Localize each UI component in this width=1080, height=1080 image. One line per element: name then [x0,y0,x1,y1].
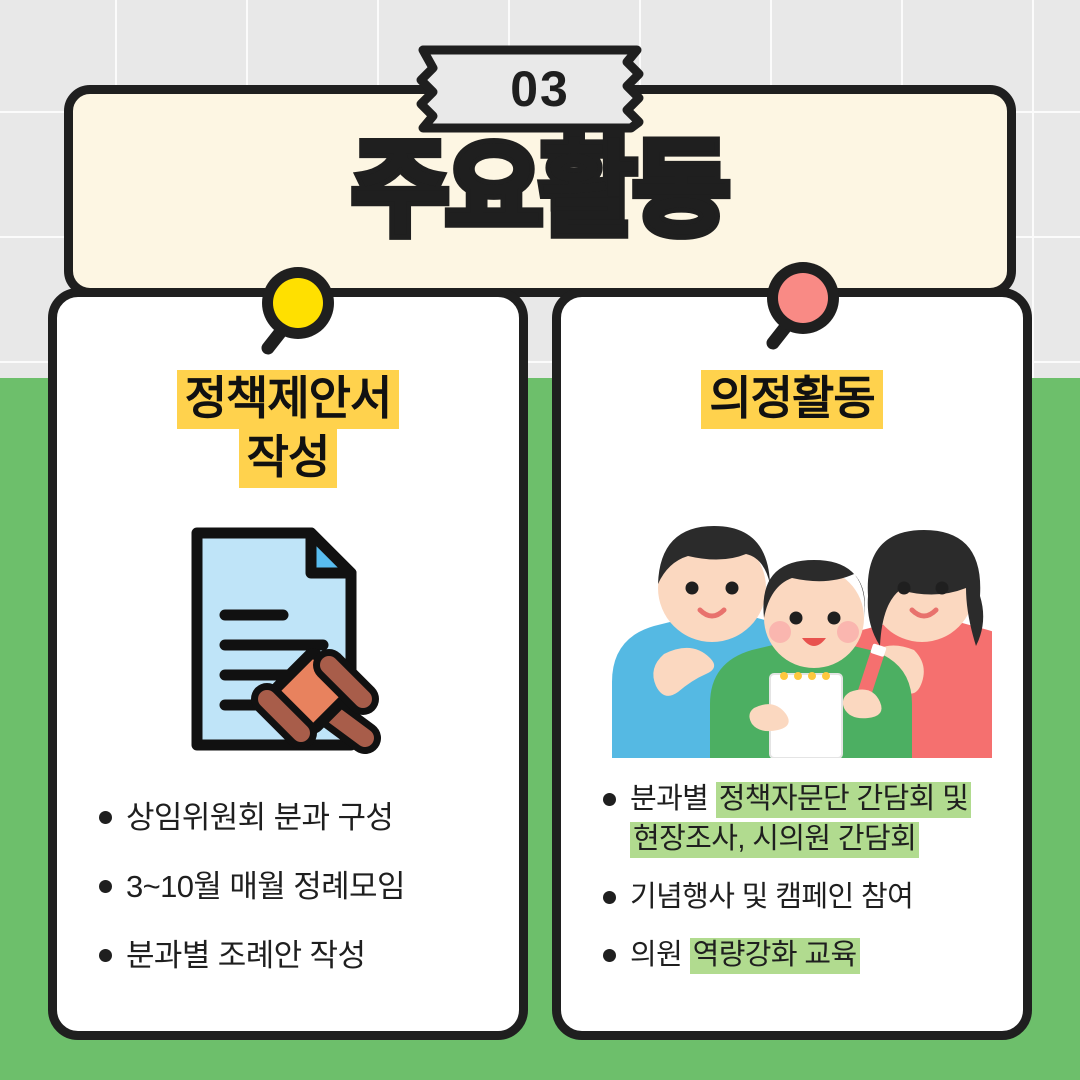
card-council-activity: 의정활동 [552,288,1032,1040]
bullet-dot-icon [603,891,616,904]
document-gavel-icon [57,509,519,769]
bullet-text: 분과별 조례안 작성 [126,935,365,978]
bullet-segment-plain: 분과별 [630,783,716,815]
bullet-dot-icon [603,793,616,806]
card-title-left: 정책제안서 작성 [57,369,519,487]
card-title-line: 작성 [239,429,338,488]
bullet-dot-icon [603,949,616,962]
list-item: 상임위원회 분과 구성 [87,797,485,840]
section-number-badge: 03 [413,42,667,136]
bullet-segment-plain: 의원 [630,939,690,971]
card-policy-proposal: 정책제안서 작성 [48,288,528,1040]
pushpin-icon-right [757,253,849,355]
bullet-list-left: 상임위원회 분과 구성 3~10월 매월 정례모임 분과별 조례안 작성 [57,797,519,1003]
infographic-slide: 03 주요활동 정책제안서 작성 [0,0,1080,1080]
three-people-icon [561,487,1023,767]
bullet-dot-icon [99,949,112,962]
bullet-text: 상임위원회 분과 구성 [126,797,393,840]
section-number-label: 03 [413,42,667,136]
bullet-segment-highlighted: 역량강화 교육 [690,938,860,974]
bullet-dot-icon [99,811,112,824]
bullet-text: 의원 역량강화 교육 [630,935,860,975]
page-title: 주요활동 [64,138,1016,242]
pushpin-icon-left [252,258,344,360]
card-title-line: 의정활동 [701,370,882,429]
list-item: 분과별 조례안 작성 [87,935,485,978]
bullet-text: 기념행사 및 캠페인 참여 [630,877,913,917]
card-title-right: 의정활동 [561,369,1023,428]
list-item: 기념행사 및 캠페인 참여 [591,877,989,917]
bullet-text: 3~10월 매월 정례모임 [126,866,405,909]
list-item: 분과별 정책자문단 간담회 및 현장조사, 시의원 간담회 [591,779,989,859]
card-title-line: 정책제안서 [177,370,400,429]
bullet-dot-icon [99,880,112,893]
list-item: 의원 역량강화 교육 [591,935,989,975]
list-item: 3~10월 매월 정례모임 [87,866,485,909]
bullet-text: 분과별 정책자문단 간담회 및 현장조사, 시의원 간담회 [630,779,989,859]
bullet-list-right: 분과별 정책자문단 간담회 및 현장조사, 시의원 간담회 기념행사 및 캠페인… [561,779,1023,993]
